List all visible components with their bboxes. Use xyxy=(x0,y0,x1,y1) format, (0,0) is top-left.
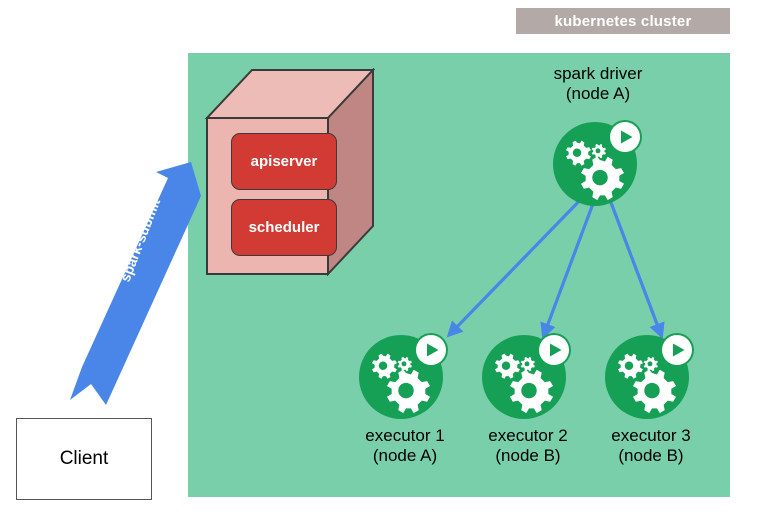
executor-3-node: (node B) xyxy=(576,446,726,466)
k8s-pod-gears-play-icon xyxy=(603,327,697,421)
apiserver-label: apiserver xyxy=(251,153,318,170)
pod-executor-1[interactable] xyxy=(357,327,451,421)
spark-driver-label: spark driver (node A) xyxy=(523,64,673,104)
cluster-banner-label: kubernetes cluster xyxy=(555,13,692,30)
spark-submit-label: spark-submit xyxy=(111,181,169,299)
service-box-apiserver[interactable]: apiserver xyxy=(231,133,337,190)
client-label: Client xyxy=(60,448,109,470)
service-box-scheduler[interactable]: scheduler xyxy=(231,199,337,256)
k8s-pod-gears-play-icon xyxy=(551,114,645,208)
k8s-pod-gears-play-icon xyxy=(480,327,574,421)
scheduler-label: scheduler xyxy=(249,219,320,236)
control-plane-cube: apiserver scheduler xyxy=(205,68,375,283)
client-box[interactable]: Client xyxy=(16,418,152,500)
spark-driver-node: (node A) xyxy=(523,84,673,104)
executor-3-name: executor 3 xyxy=(576,426,726,446)
k8s-pod-gears-play-icon xyxy=(357,327,451,421)
pod-executor-3[interactable] xyxy=(603,327,697,421)
pod-executor-2[interactable] xyxy=(480,327,574,421)
executor-3-label: executor 3 (node B) xyxy=(576,426,726,466)
spark-driver-name: spark driver xyxy=(523,64,673,84)
spark-submit-arrow-icon xyxy=(58,160,208,408)
kubernetes-cluster-banner: kubernetes cluster xyxy=(516,8,730,34)
pod-spark-driver[interactable] xyxy=(551,114,645,208)
